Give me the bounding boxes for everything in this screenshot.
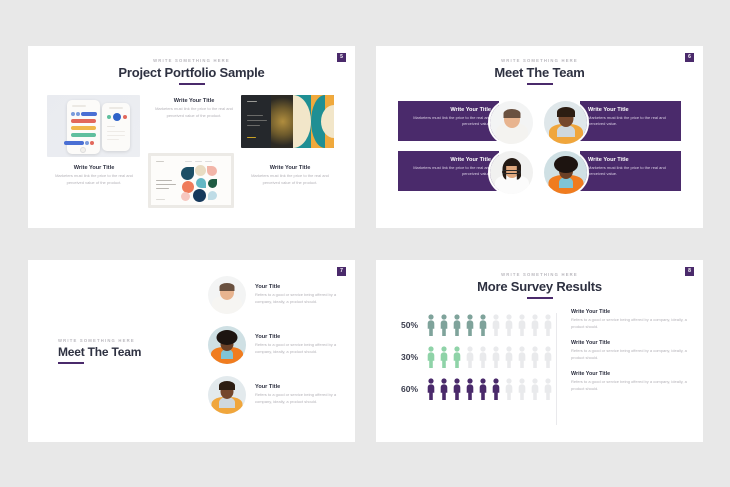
person-icon [478,314,488,336]
person-icon [478,378,488,400]
avatar [542,99,589,146]
title-underline [179,83,205,85]
person-icon [465,378,475,400]
portfolio-caption: Write Your Title Marketers must link the… [242,165,338,187]
person-icon [465,314,475,336]
block-body: Refers to a good or service being offere… [571,317,693,331]
person-icon [452,346,462,368]
person-icon [517,346,527,368]
person-icon [530,346,540,368]
person-icon [465,378,475,400]
title-underline [58,362,84,364]
person-icon [491,378,501,400]
avatar [488,99,535,146]
survey-text-block: Write Your Title Refers to a good or ser… [571,371,693,393]
caption-title: Write Your Title [46,165,142,171]
person-icon [491,314,501,336]
person-icon [517,378,527,400]
person-icon [452,314,462,336]
avatar [488,149,535,196]
team-card-title: Write Your Title [588,107,673,113]
person-icon [530,378,540,400]
slide-deck-board: 5 WRITE SOMETHING HERE Project Portfolio… [0,0,730,487]
eyebrow-text: WRITE SOMETHING HERE [376,272,703,277]
person-icon [465,314,475,336]
person-icon [452,314,462,336]
caption-body: Marketers must link the price to the rea… [242,173,338,186]
person-icon [543,346,553,368]
pictogram-row: 60% [390,373,556,405]
block-title: Write Your Title [571,309,693,315]
eyebrow-text: WRITE SOMETHING HERE [28,58,355,63]
block-title: Write Your Title [571,340,693,346]
slide-header: WRITE SOMETHING HERE Project Portfolio S… [28,46,355,85]
avatar [208,326,246,364]
portfolio-caption: Write Your Title Marketers must link the… [46,165,142,187]
percent-label: 50% [390,320,418,330]
team-card-body: Marketers must link the price to the rea… [588,165,673,178]
avatar [208,276,246,314]
percent-label: 30% [390,352,418,362]
caption-title: Write Your Title [146,98,242,104]
person-icon [426,378,436,400]
person-icon [478,378,488,400]
person-icon-group [426,346,556,368]
portfolio-grid: Write Your Title Marketers must link the… [28,91,355,216]
list-item[interactable]: Your Title Refers to a good or service b… [208,276,348,314]
portfolio-caption: Write Your Title Marketers must link the… [146,98,242,120]
person-icon [504,314,514,336]
pictogram-row: 30% [390,341,556,373]
person-icon [426,378,436,400]
person-icon [478,346,488,368]
person-icon [452,378,462,400]
person-icon [491,314,501,336]
person-icon [478,346,488,368]
title-underline [527,83,553,85]
person-icon [504,378,514,400]
team-member-list: Your Title Refers to a good or service b… [208,276,348,426]
block-body: Refers to a good or service being offere… [571,348,693,362]
geometric-slide-mockup-image[interactable] [148,153,234,208]
avatar [542,149,589,196]
block-title: Write Your Title [571,371,693,377]
person-icon [517,314,527,336]
mobile-app-mockup-image[interactable] [47,95,140,157]
person-icon [439,314,449,336]
person-icon [543,378,553,400]
team-card-grid: Write Your Title Marketers must link the… [376,97,703,207]
slide-number-badge: 5 [337,53,346,62]
pictogram-row: 50% [390,309,556,341]
person-icon [517,378,527,400]
team-card-title: Write Your Title [588,157,673,163]
slide-header: WRITE SOMETHING HERE More Survey Results [376,260,703,299]
list-item-body: Refers to a good or service being offere… [255,292,348,306]
phone-front [67,100,100,154]
phone-back [102,103,130,151]
person-icon [543,378,553,400]
survey-text-block: Write Your Title Refers to a good or ser… [571,340,693,362]
person-icon-group [426,314,556,336]
person-icon [452,378,462,400]
person-icon [491,346,501,368]
person-icon [530,378,540,400]
person-icon [491,378,501,400]
pictogram-rows: 50% 30% 60% [376,309,556,429]
eyebrow-text: WRITE SOMETHING HERE [58,338,178,343]
team-card[interactable]: Write Your Title Marketers must link the… [580,101,681,141]
percent-label: 60% [390,384,418,394]
person-icon [439,378,449,400]
person-icon [530,314,540,336]
team-card[interactable]: Write Your Title Marketers must link the… [398,151,499,191]
dark-website-mockup-image[interactable] [241,95,334,148]
team-card-body: Marketers must link the price to the rea… [406,165,491,178]
list-item-title: Your Title [255,334,348,340]
team-card-body: Marketers must link the price to the rea… [588,115,673,128]
person-icon [439,378,449,400]
team-card-body: Marketers must link the price to the rea… [406,115,491,128]
person-icon [517,346,527,368]
person-icon [543,314,553,336]
person-icon [504,378,514,400]
list-item[interactable]: Your Title Refers to a good or service b… [208,326,348,364]
team-card-title: Write Your Title [406,107,491,113]
slide-header: WRITE SOMETHING HERE Meet The Team [58,338,178,364]
page-title: Meet The Team [376,65,703,80]
person-icon [504,346,514,368]
page-title: Meet The Team [58,345,178,359]
slide-project-portfolio-sample[interactable]: 5 WRITE SOMETHING HERE Project Portfolio… [28,46,355,228]
title-underline [527,297,553,299]
person-icon [530,314,540,336]
list-item[interactable]: Your Title Refers to a good or service b… [208,376,348,414]
team-card[interactable]: Write Your Title Marketers must link the… [580,151,681,191]
person-icon [543,346,553,368]
slide-number-badge: 6 [685,53,694,62]
person-icon [491,346,501,368]
person-icon [439,346,449,368]
person-icon [465,346,475,368]
eyebrow-text: WRITE SOMETHING HERE [376,58,703,63]
page-title: More Survey Results [376,279,703,294]
avatar [208,376,246,414]
person-icon [504,346,514,368]
caption-body: Marketers must link the price to the rea… [146,106,242,119]
list-item-body: Refers to a good or service being offere… [255,342,348,356]
person-icon [426,346,436,368]
page-title: Project Portfolio Sample [28,65,355,80]
survey-pictogram-chart: 50% 30% 60% Write Your Title Refers to a… [376,309,703,429]
team-card-title: Write Your Title [406,157,491,163]
person-icon [465,346,475,368]
person-icon [439,346,449,368]
person-icon [478,314,488,336]
list-item-title: Your Title [255,384,348,390]
list-item-title: Your Title [255,284,348,290]
person-icon [426,314,436,336]
survey-text-block: Write Your Title Refers to a good or ser… [571,309,693,331]
block-body: Refers to a good or service being offere… [571,379,693,393]
slide-more-survey-results[interactable]: 8 WRITE SOMETHING HERE More Survey Resul… [376,260,703,442]
caption-body: Marketers must link the price to the rea… [46,173,142,186]
slide-meet-the-team-list[interactable]: 7 WRITE SOMETHING HERE Meet The Team [28,260,355,442]
slide-meet-the-team-cards[interactable]: 6 WRITE SOMETHING HERE Meet The Team Wri… [376,46,703,228]
person-icon [439,314,449,336]
person-icon [517,314,527,336]
survey-legend-blocks: Write Your Title Refers to a good or ser… [557,309,703,429]
caption-title: Write Your Title [242,165,338,171]
person-icon [452,346,462,368]
person-icon [504,314,514,336]
person-icon [426,346,436,368]
person-icon-group [426,378,556,400]
person-icon [530,346,540,368]
team-card[interactable]: Write Your Title Marketers must link the… [398,101,499,141]
slide-header: WRITE SOMETHING HERE Meet The Team [376,46,703,85]
slide-number-badge: 8 [685,267,694,276]
person-icon [543,314,553,336]
person-icon [426,314,436,336]
list-item-body: Refers to a good or service being offere… [255,392,348,406]
